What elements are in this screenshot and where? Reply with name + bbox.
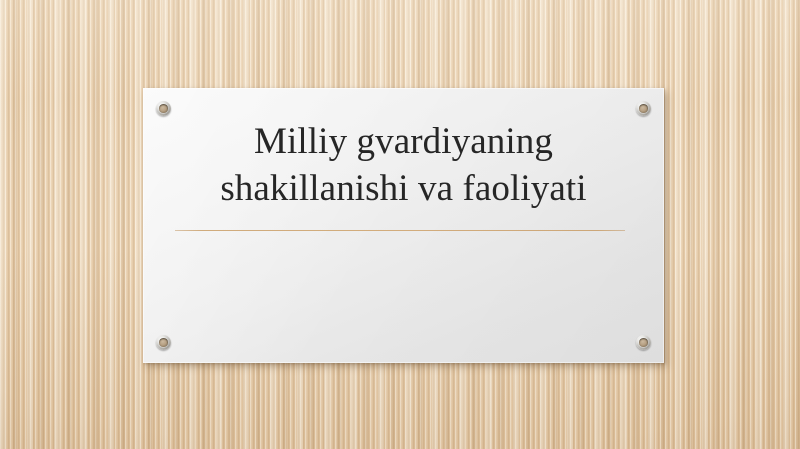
slide-canvas: Milliy gvardiyaning shakillanishi va fao… — [0, 0, 800, 449]
slide-title-line-1: Milliy gvardiyaning — [165, 118, 642, 165]
title-accent-rule — [175, 230, 625, 231]
title-text-block[interactable]: Milliy gvardiyaning shakillanishi va fao… — [165, 118, 642, 213]
slide-title: Milliy gvardiyaning shakillanishi va fao… — [165, 118, 642, 213]
screw-icon-bottom-left — [156, 335, 171, 350]
screw-icon-top-left — [156, 101, 171, 116]
screw-icon-bottom-right — [636, 335, 651, 350]
slide-title-line-2: shakillanishi va faoliyati — [165, 165, 642, 212]
subtitle-placeholder[interactable] — [175, 248, 625, 338]
screw-icon-top-right — [636, 101, 651, 116]
title-plaque-panel[interactable]: Milliy gvardiyaning shakillanishi va fao… — [143, 88, 664, 363]
